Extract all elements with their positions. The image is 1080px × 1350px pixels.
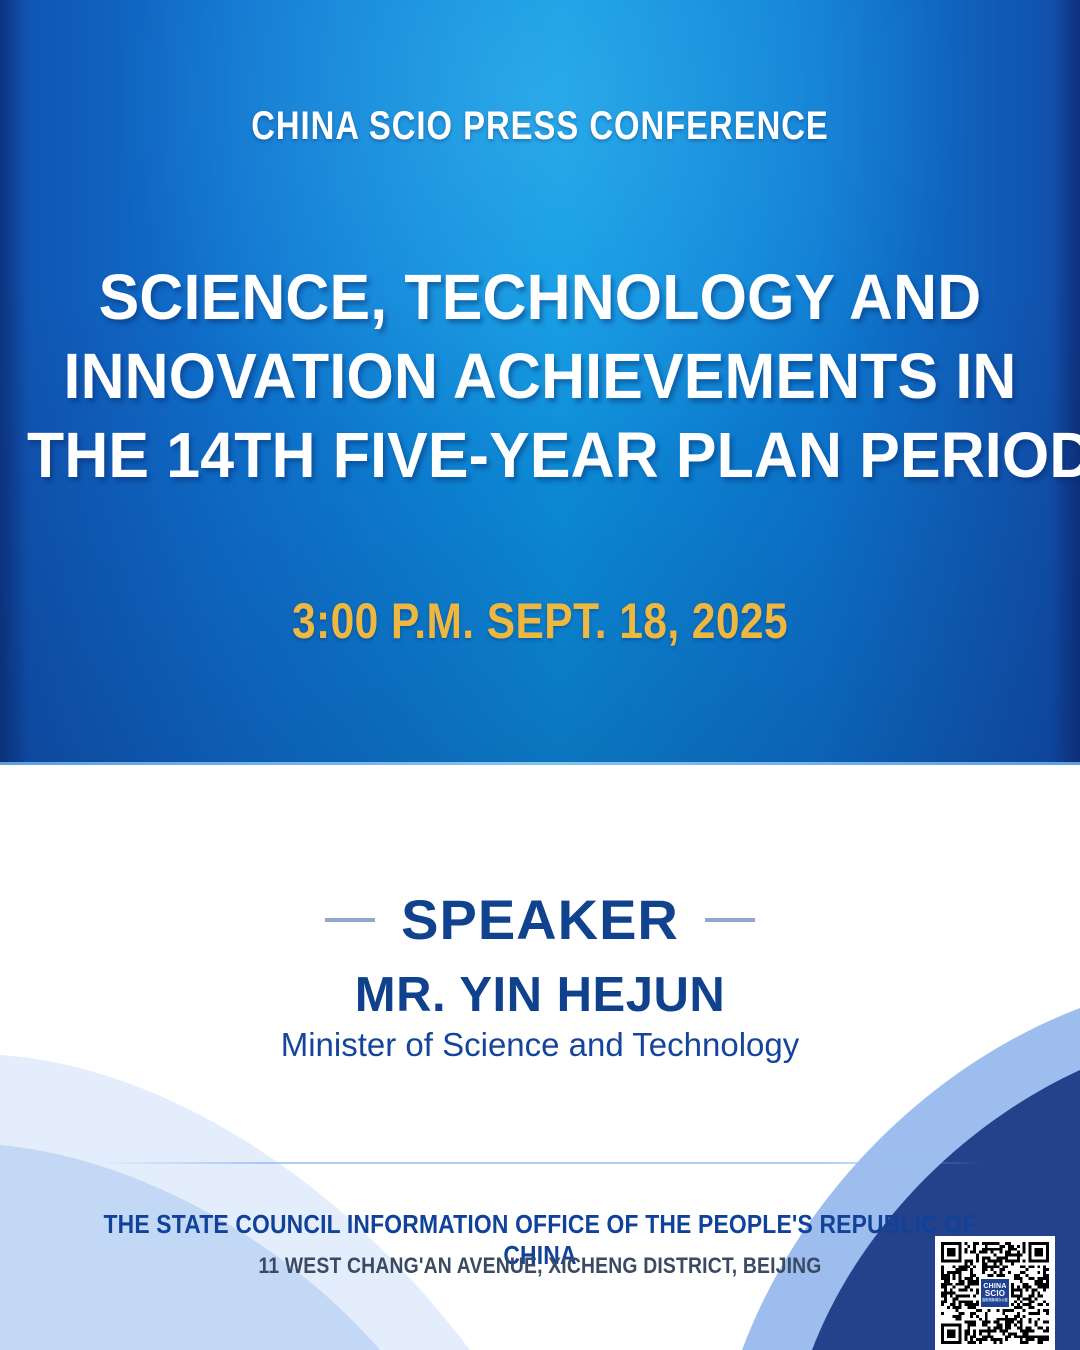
qr-code-pattern: CHINA SCIO 国务院新闻办公室 — [941, 1242, 1049, 1344]
speaker-role: Minister of Science and Technology — [0, 1026, 1080, 1064]
hero-right-edge-shade — [1054, 0, 1080, 765]
speaker-name: MR. YIN HEJUN — [0, 967, 1080, 1023]
hero-left-edge-shade — [0, 0, 26, 765]
hero-bottom-seam — [0, 762, 1080, 765]
qr-code[interactable]: CHINA SCIO 国务院新闻办公室 — [935, 1236, 1055, 1350]
title-line-2: INNOVATION ACHIEVEMENTS IN — [27, 337, 1053, 416]
rule-left-icon — [325, 918, 375, 922]
page-title: SCIENCE, TECHNOLOGY AND INNOVATION ACHIE… — [27, 258, 1053, 495]
speaker-section-header: SPEAKER — [0, 892, 1080, 948]
rule-right-icon — [705, 918, 755, 922]
organization-address: 11 WEST CHANG'AN AVENUE, XICHENG DISTRIC… — [65, 1253, 1015, 1279]
title-line-3: THE 14TH FIVE-YEAR PLAN PERIOD — [27, 416, 1053, 495]
footer-divider — [96, 1162, 984, 1164]
qr-logo-line-3: 国务院新闻办公室 — [982, 1299, 1008, 1302]
qr-center-logo: CHINA SCIO 国务院新闻办公室 — [979, 1277, 1011, 1309]
event-datetime: 3:00 P.M. SEPT. 18, 2025 — [81, 592, 999, 650]
title-line-1: SCIENCE, TECHNOLOGY AND — [27, 258, 1053, 337]
speaker-section-label: SPEAKER — [401, 892, 679, 948]
poster-root: CHINA SCIO PRESS CONFERENCE SCIENCE, TEC… — [0, 0, 1080, 1350]
event-kicker: CHINA SCIO PRESS CONFERENCE — [97, 104, 983, 149]
